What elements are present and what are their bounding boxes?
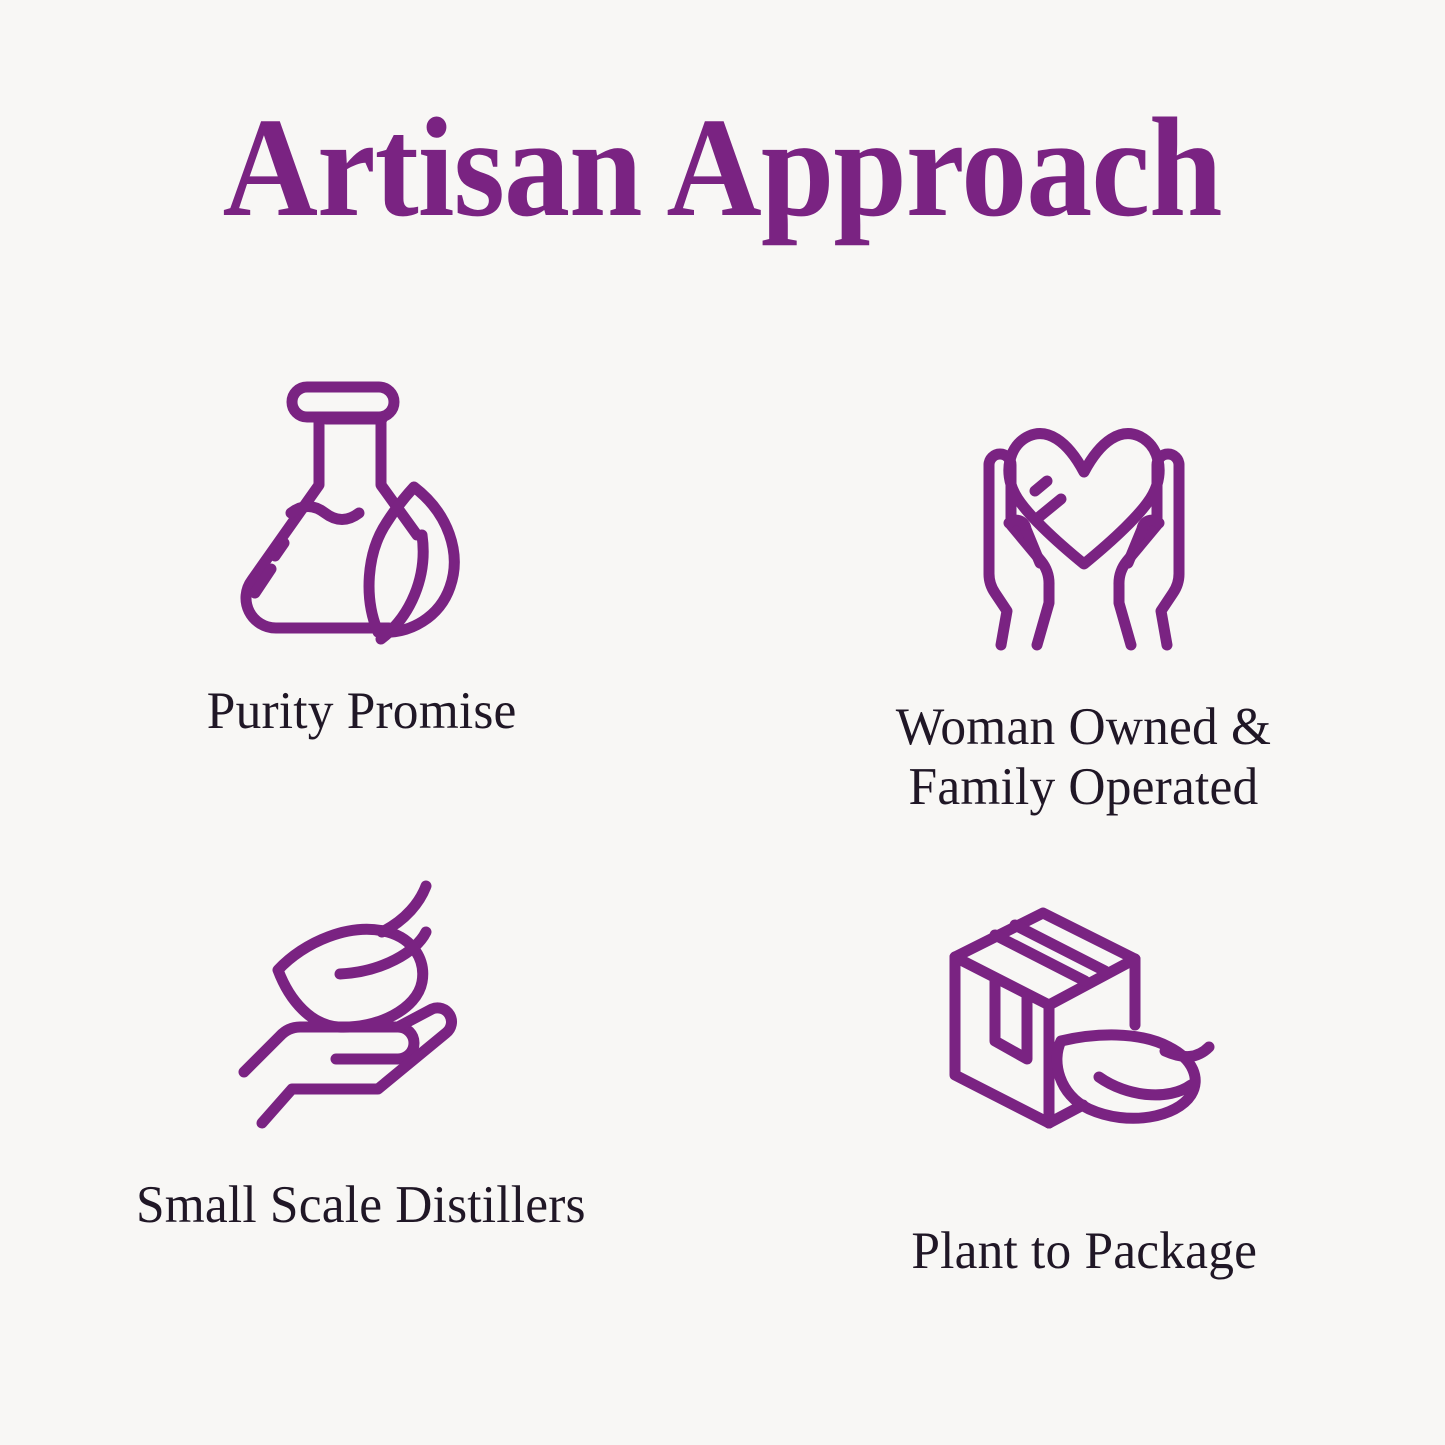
- hand-holding-leaf-icon: [226, 868, 496, 1138]
- hands-holding-heart-icon: [934, 382, 1234, 682]
- box-leaf-icon: [934, 884, 1234, 1184]
- feature-label-purity-promise: Purity Promise: [206, 682, 516, 742]
- page-title: Artisan Approach: [223, 96, 1222, 238]
- feature-grid: Purity Promise: [0, 340, 1445, 1340]
- feature-label-plant-to-package: Plant to Package: [911, 1222, 1257, 1282]
- feature-item-purity-promise[interactable]: Purity Promise: [0, 340, 723, 840]
- feature-item-woman-owned[interactable]: Woman Owned & Family Operated: [723, 340, 1445, 840]
- feature-label-small-scale-distillers: Small Scale Distillers: [136, 1176, 586, 1236]
- feature-item-plant-to-package[interactable]: Plant to Package: [723, 840, 1445, 1340]
- flask-leaf-icon: [211, 362, 511, 662]
- feature-item-small-scale-distillers[interactable]: Small Scale Distillers: [0, 840, 723, 1340]
- feature-label-woman-owned: Woman Owned & Family Operated: [896, 698, 1271, 818]
- artisan-approach-panel: Artisan Approach: [0, 0, 1445, 1445]
- page-title-container: Artisan Approach: [0, 96, 1445, 238]
